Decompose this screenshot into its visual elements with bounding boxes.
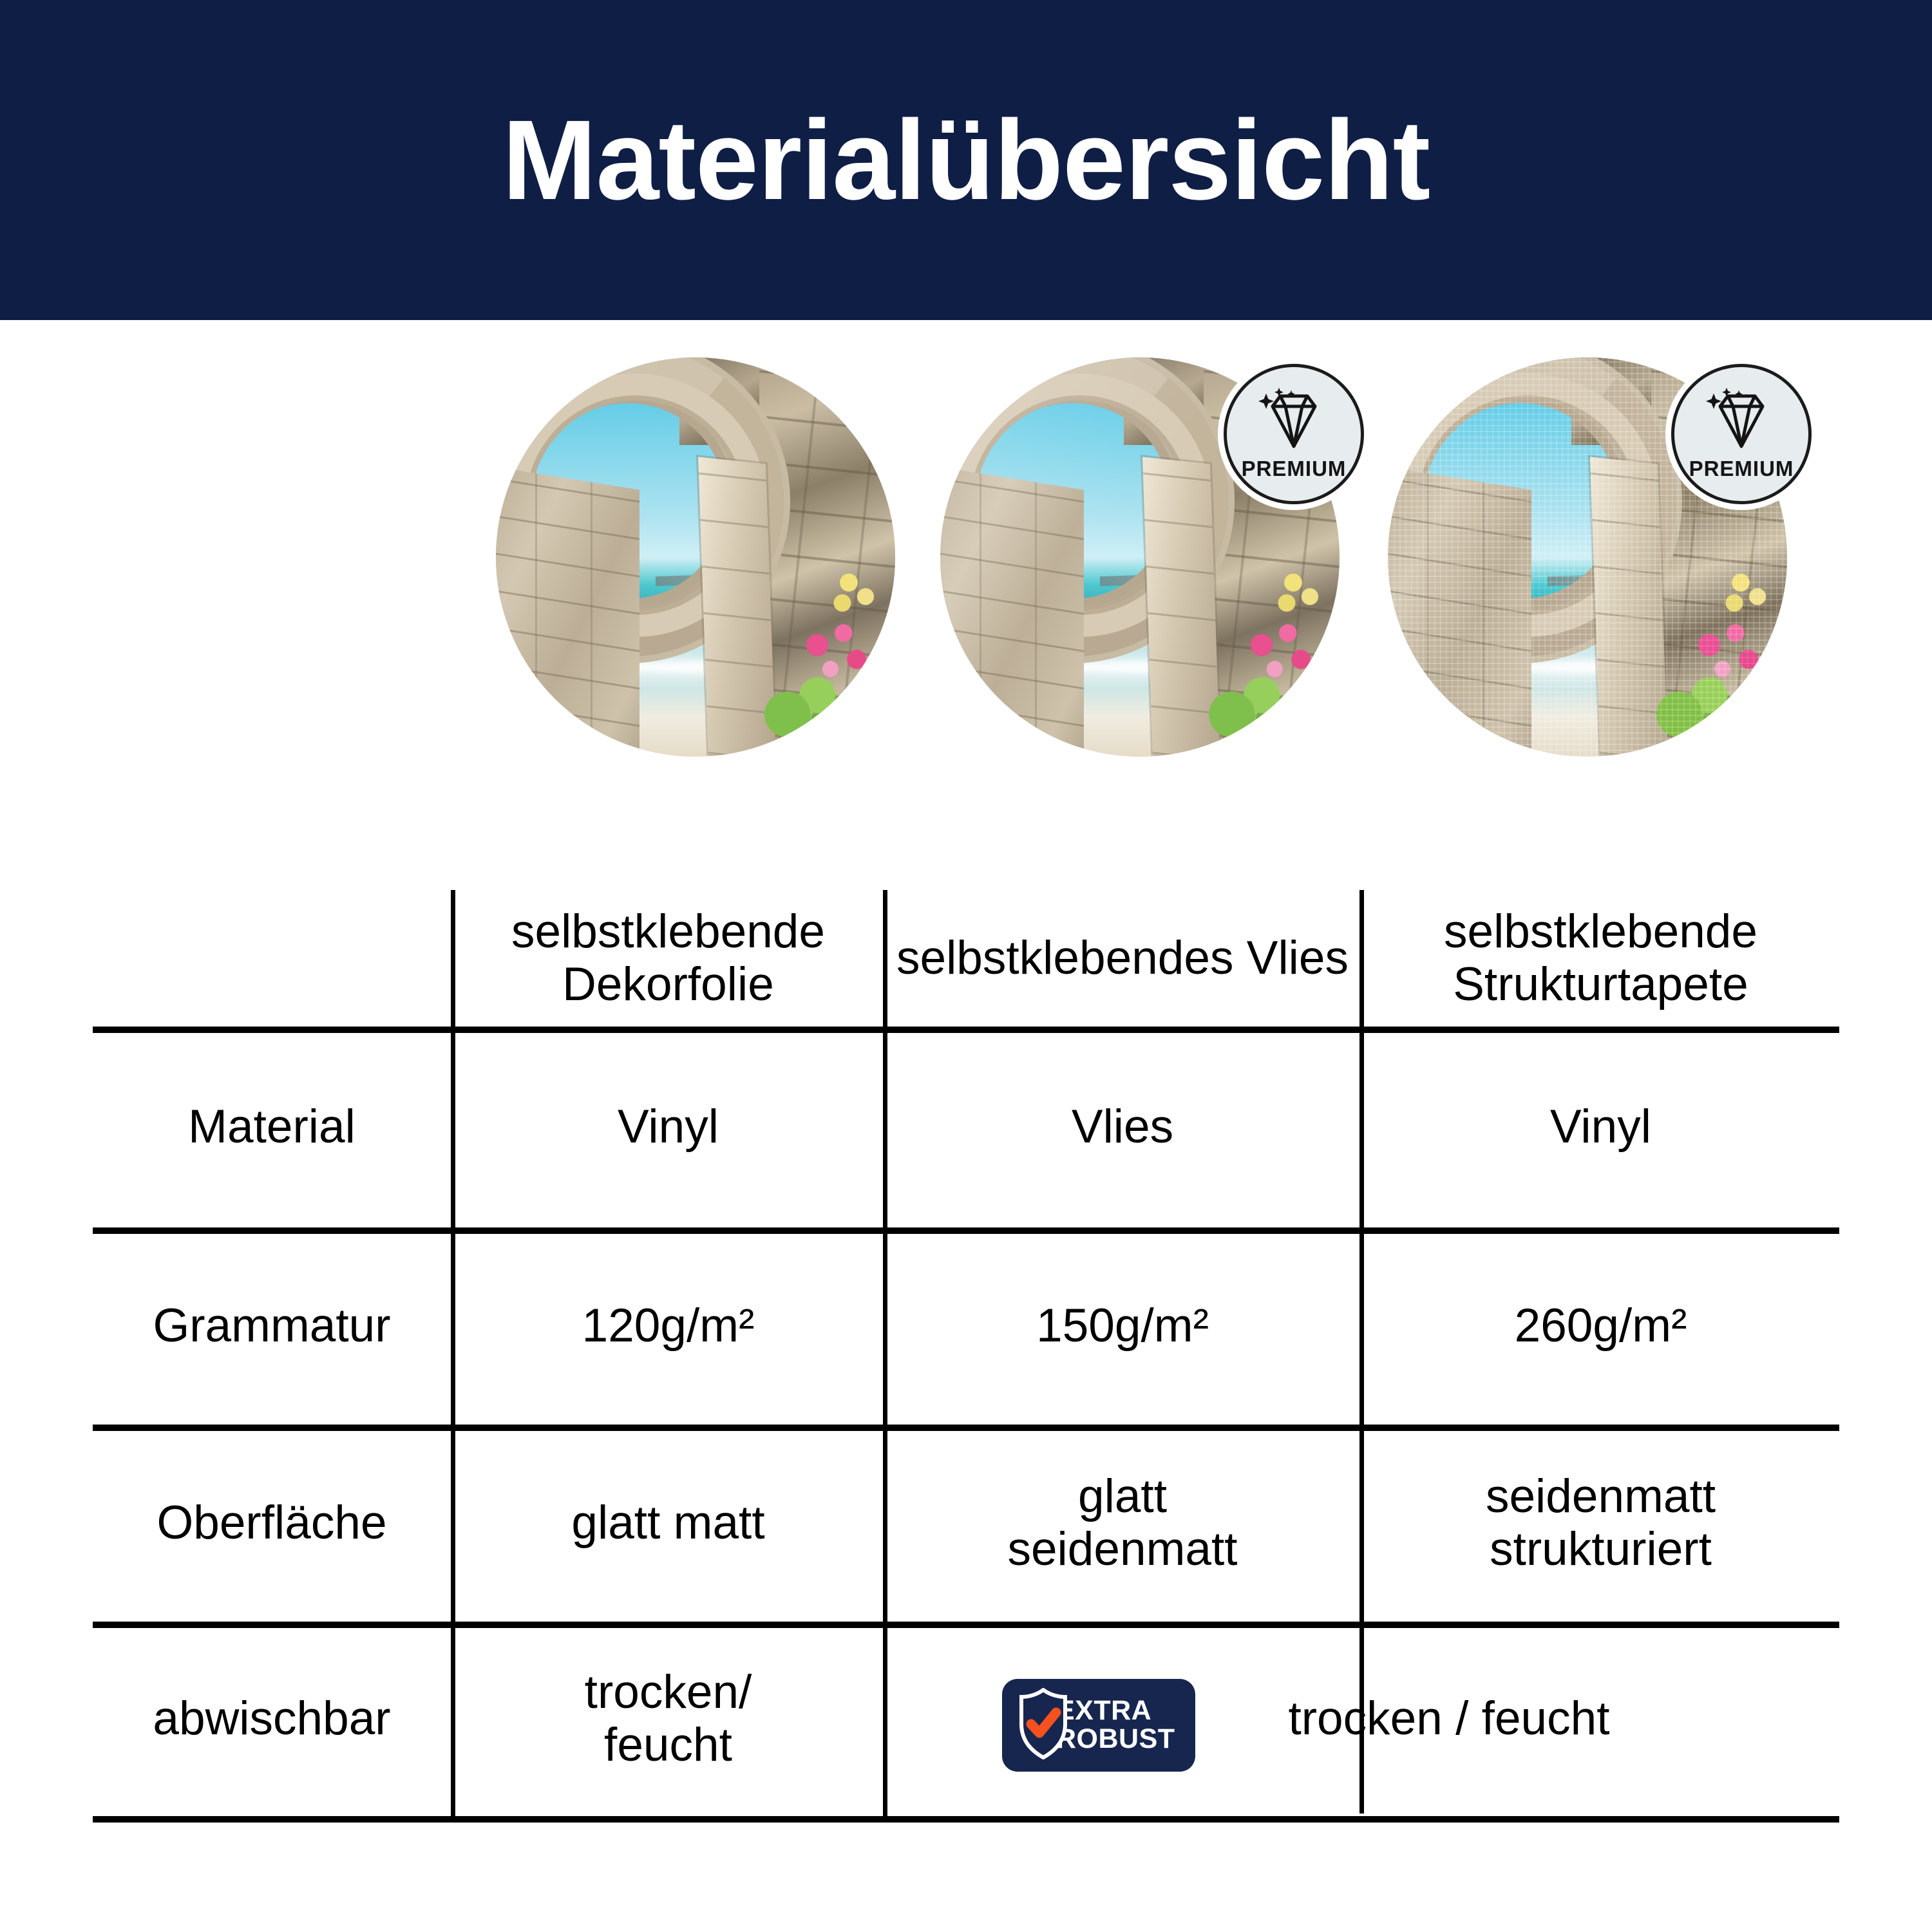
table-col-header-3: selbstklebende Strukturtapete [1362,890,1839,1027]
table-cell-grammatur-3: 260g/m² [1362,1227,1839,1425]
extra-robust-badge: EXTRA ROBUST [1002,1679,1195,1772]
extra-robust-text: EXTRA ROBUST [1056,1697,1175,1754]
table-cell-material-3: Vinyl [1362,1027,1839,1227]
product-preview-dekorfolie[interactable] [496,357,895,757]
page-title: Materialübersicht [502,104,1430,217]
table-row-label-abwischbar: abwischbar [93,1622,451,1816]
premium-badge-label: PREMIUM [1689,457,1794,481]
arch-sea-scene-1 [496,357,895,757]
page-header-banner: Materialübersicht [0,0,1932,320]
table-cell-material-2: Vlies [885,1027,1359,1227]
product-preview-vlies[interactable]: PREMIUM [940,357,1340,757]
premium-badge: PREMIUM [1224,364,1364,504]
table-cell-oberflaeche-3: seidenmatt strukturiert [1362,1425,1839,1622]
product-preview-strukturtapete[interactable]: PREMIUM [1388,357,1787,757]
table-col-header-2: selbstklebendes Vlies [885,890,1359,1027]
table-row-label-material: Material [93,1027,451,1227]
extra-robust-line-2: ROBUST [1056,1725,1175,1754]
product-preview-row: PREMIUM [0,351,1932,763]
material-overview-page: Materialübersicht [0,0,1932,1932]
premium-badge-label: PREMIUM [1242,457,1347,481]
diamond-icon [1256,387,1332,454]
table-cell-material-1: Vinyl [453,1027,883,1227]
table-cell-grammatur-2: 150g/m² [885,1227,1359,1425]
diamond-icon [1703,387,1779,454]
wall-left [496,464,639,757]
table-col-header-1: selbstklebende Dekorfolie [453,890,883,1027]
product-image-circle-1 [496,357,895,757]
table-row-label-grammatur: Grammatur [93,1227,451,1425]
premium-badge: PREMIUM [1671,364,1812,504]
shield-check-icon [1019,1688,1068,1760]
table-cell-grammatur-1: 120g/m² [453,1227,883,1425]
table-cell-abwischbar-1: trocken/ feucht [453,1622,883,1816]
table-cell-oberflaeche-2: glatt seidenmatt [885,1425,1359,1622]
yellow-flowers [823,557,887,621]
table-row-label-oberflaeche: Oberfläche [93,1425,451,1622]
table-rule-table-bottom [93,1816,1839,1823]
material-spec-table: selbstklebende Dekorfolie selbstklebende… [93,890,1839,1823]
pink-flowers [795,613,883,693]
extra-robust-line-1: EXTRA [1056,1697,1175,1725]
table-cell-oberflaeche-1: glatt matt [453,1425,883,1622]
